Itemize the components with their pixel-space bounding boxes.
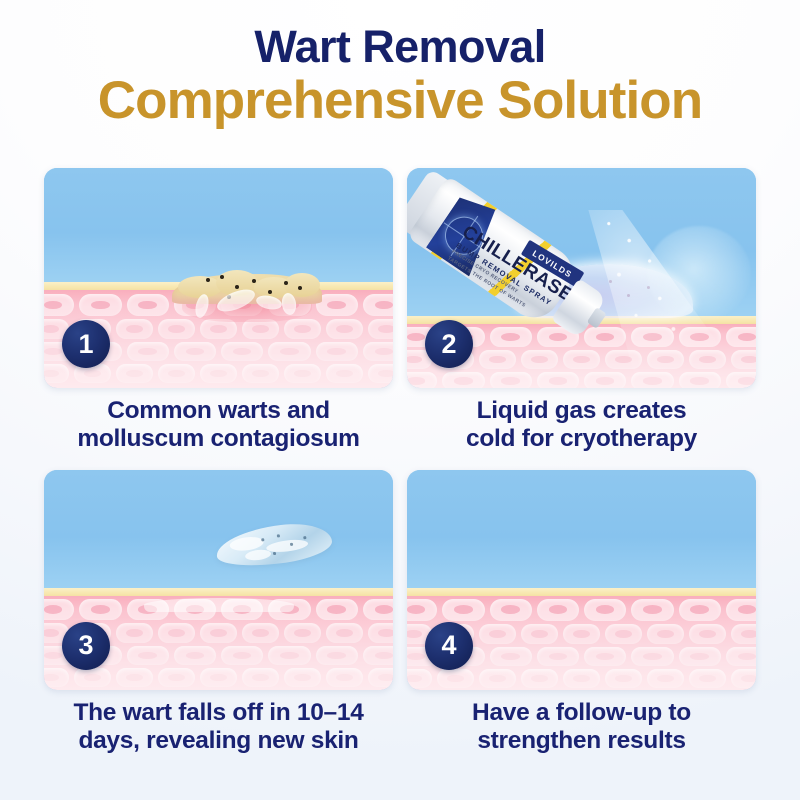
poster-header: Wart Removal Comprehensive Solution xyxy=(0,0,800,129)
wart-lesion xyxy=(172,264,322,304)
step-caption: Liquid gas creates cold for cryotherapy xyxy=(407,397,756,454)
step-caption: The wart falls off in 10–14 days, reveal… xyxy=(44,699,393,756)
step-number-badge: 4 xyxy=(425,622,473,670)
illustration-panel-2: LOVILDS CHILLERASE BUMP REMOVAL SPRAY PR… xyxy=(407,168,756,388)
air-region xyxy=(44,470,393,592)
page-title-main: Wart Removal xyxy=(0,24,800,71)
air-region xyxy=(407,470,756,592)
cell-row xyxy=(407,372,756,388)
step-caption: Common warts and molluscum contagiosum xyxy=(44,397,393,454)
step-number-badge: 2 xyxy=(425,320,473,368)
illustration-panel-1: 1 xyxy=(44,168,393,388)
cell-row xyxy=(407,599,756,621)
cell-row xyxy=(44,364,393,383)
step-number-badge: 1 xyxy=(62,320,110,368)
step-number-badge: 3 xyxy=(62,622,110,670)
step-card-2: LOVILDS CHILLERASE BUMP REMOVAL SPRAY PR… xyxy=(407,168,756,454)
step-card-1: 1 Common warts and molluscum contagiosum xyxy=(44,168,393,454)
new-skin-ridge xyxy=(144,598,294,612)
cell-row xyxy=(407,669,756,688)
step-caption: Have a follow-up to strengthen results xyxy=(407,699,756,756)
cell-row xyxy=(44,668,393,687)
illustration-panel-4: 4 xyxy=(407,470,756,690)
illustration-panel-3: 3 xyxy=(44,470,393,690)
cold-vapor-cloud xyxy=(647,226,751,322)
step-card-3: 3 The wart falls off in 10–14 days, reve… xyxy=(44,470,393,756)
infographic-poster: Wart Removal Comprehensive Solution xyxy=(0,0,800,800)
steps-grid: 1 Common warts and molluscum contagiosum xyxy=(44,168,756,756)
page-title-sub: Comprehensive Solution xyxy=(0,73,800,129)
step-card-4: 4 Have a follow-up to strengthen results xyxy=(407,470,756,756)
